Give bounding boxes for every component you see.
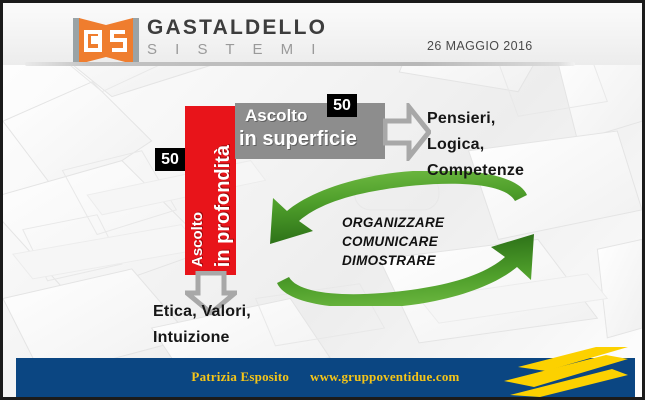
header-divider (25, 62, 575, 66)
cycle-center-text: ORGANIZZARE COMUNICARE DIMOSTRARE (342, 213, 444, 270)
outcome-right-line1: Pensieri, (427, 106, 524, 132)
cycle-line1: ORGANIZZARE (342, 213, 444, 232)
surface-listening-box: Ascolto in superficie (235, 103, 385, 159)
outcome-right-line2: Logica, (427, 132, 524, 158)
surface-badge-50: 50 (327, 94, 357, 117)
surface-box-label-line1: Ascolto (245, 106, 307, 126)
cycle-line3: DIMOSTRARE (342, 251, 444, 270)
logo-wordmark: GASTALDELLO S I S T E M I (147, 17, 327, 58)
outcome-right-line3: Competenze (427, 158, 524, 184)
footer-website[interactable]: www.gruppoventidue.com (310, 369, 460, 384)
slide-date: 26 MAGGIO 2016 (427, 39, 533, 53)
slide-header: GASTALDELLO S I S T E M I 26 MAGGIO 2016 (3, 3, 645, 65)
footer-author: Patrizia Esposito (191, 369, 289, 384)
gastaldello-logo-icon (73, 16, 139, 66)
logo-company-name: GASTALDELLO (147, 17, 327, 39)
cycle-line2: COMUNICARE (342, 232, 444, 251)
depth-listening-bar: Ascolto in profondità (185, 106, 236, 275)
outcome-bottom-line1: Etica, Valori, (153, 299, 251, 325)
gruppoventidue-logo-icon (500, 345, 628, 397)
arrow-right-icon (383, 103, 431, 161)
depth-badge-50: 50 (155, 148, 185, 171)
depth-bar-label-line1: Ascolto (189, 212, 206, 267)
outcome-right-text: Pensieri, Logica, Competenze (427, 106, 524, 184)
logo-company-subtitle: S I S T E M I (147, 41, 327, 58)
outcome-bottom-line2: Intuizione (153, 325, 251, 351)
outcome-bottom-text: Etica, Valori, Intuizione (153, 299, 251, 351)
surface-box-label-line2: in superficie (239, 128, 357, 151)
depth-bar-label-line2: in profondità (212, 145, 235, 267)
presentation-slide: GASTALDELLO S I S T E M I 26 MAGGIO 2016… (0, 0, 645, 400)
